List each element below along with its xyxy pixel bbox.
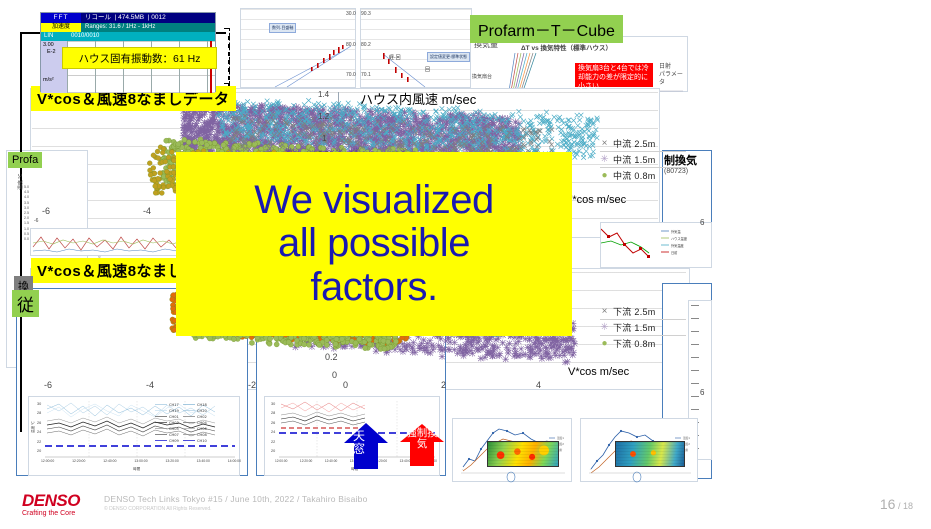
- small-chart-left-ytick-1: 80.0: [346, 42, 356, 48]
- label-profarm-t-cube: Profarm－T－Cube: [470, 15, 623, 43]
- main-legend-marker-0: ×: [600, 139, 609, 149]
- svg-text:CH06: CH06: [197, 427, 207, 431]
- footer-text: DENSO Tech Links Tokyo #15 / June 10th, …: [104, 494, 368, 512]
- svg-text:CH08: CH08: [197, 433, 207, 437]
- svg-text:CH05: CH05: [169, 427, 179, 431]
- lower-xtick-3: 0: [343, 380, 348, 390]
- fft-range-label: Ranges: 31.6 / 1Hz - 1kHz: [81, 23, 215, 32]
- lower-xtick-2: -2: [248, 380, 256, 390]
- svg-text:CH09: CH09: [169, 439, 179, 443]
- fft-title: FFT: [41, 13, 81, 23]
- main-legend-row-2: ● 中流 0.8m: [600, 169, 686, 182]
- small-chart-mid-tag2: 回: [423, 65, 432, 74]
- main-xtick-1: -4: [143, 206, 151, 216]
- svg-text:温度1: 温度1: [683, 436, 690, 440]
- right-mini-chart-svg: 外気温ハウス温度 外気温度日射: [601, 223, 713, 269]
- svg-text:温度1: 温度1: [557, 436, 564, 440]
- main-xtick-0: -6: [42, 206, 50, 216]
- left-xtick-minus6: -6: [34, 218, 38, 224]
- lower-ytick-4: 0: [332, 370, 337, 380]
- main-legend-marker-1: ✳: [600, 155, 609, 165]
- small-chart-left-tag: 数列-目盛軸: [269, 23, 296, 33]
- small-chart-mid: 経-回 回: [360, 8, 472, 88]
- fft-memory-label: 474.5MB: [118, 14, 144, 21]
- lower-xtick-4: 2: [441, 380, 446, 390]
- fft-code-label: 0012: [151, 14, 165, 21]
- thermal-image-left: [487, 441, 559, 467]
- svg-text:CH20: CH20: [197, 409, 207, 413]
- fft-lin-row: LIN 0010/0010: [41, 32, 215, 41]
- lower-legend-label-2: 下流 0.8m: [613, 337, 656, 350]
- arrow-red-label: 強制換気: [406, 428, 438, 450]
- svg-text:CH19: CH19: [169, 409, 179, 413]
- denso-tagline: Crafting the Core: [22, 509, 100, 518]
- timeseries-left-xlabel: 時間: [133, 467, 140, 472]
- page-number-total: 18: [903, 501, 913, 511]
- timeseries-left-xticks: 12:00:00 12:20:00 12:40:00 13:00:00 13:2…: [41, 459, 241, 463]
- small-chart-mid-ytick-2: 70.1: [361, 72, 371, 78]
- ts-left-xtick-5: 13:40:00: [197, 459, 210, 463]
- lower-xtick-0: -6: [44, 380, 52, 390]
- main-legend-marker-2: ●: [600, 171, 609, 181]
- fft-param-label: 加速度: [41, 23, 81, 32]
- fft-titlebar-info: リコール | 474.5MB | 0012: [81, 13, 215, 23]
- fft-y-unit: m/s²: [43, 77, 54, 83]
- ts-left-xtick-0: 12:00:00: [41, 459, 54, 463]
- ts-center-xtick-0: 12:00:00: [275, 459, 287, 463]
- svg-text:外気温度: 外気温度: [671, 243, 685, 248]
- fft-annotation-note: ハウス固有振動数：61 Hz: [62, 47, 217, 69]
- label-forced-vent: 制換気: [664, 152, 697, 168]
- lower-legend-row-0: × 下流 2.5m: [600, 305, 686, 318]
- ts-left-xtick-4: 13:20:00: [166, 459, 179, 463]
- footer-copyright: © DENSO CORPORATION All Rights Reserved.: [104, 506, 368, 512]
- small-chart-left-trend: [241, 9, 357, 89]
- slide-canvas: FFT リコール | 474.5MB | 0012 加速度 Ranges: 31…: [0, 0, 931, 529]
- cube-red-callout: 換気扇3台と4台では冷却能力の差が限定的に小さい: [575, 63, 653, 87]
- lower-chart-legend: × 下流 2.5m ✳ 下流 1.5m ● 下流 0.8m: [600, 305, 686, 350]
- footer-event-line: DENSO Tech Links Tokyo #15 / June 10th, …: [104, 494, 368, 504]
- fft-range-row: 加速度 Ranges: 31.6 / 1Hz - 1kHz: [41, 23, 215, 32]
- fft-y-top: 3.00: [43, 42, 54, 48]
- svg-text:CH01: CH01: [169, 415, 179, 419]
- main-xaxis-label: V*cos m/sec: [565, 194, 626, 206]
- timeseries-left-ylabel: 温度 ℃: [31, 421, 36, 433]
- svg-text:CH07: CH07: [169, 433, 179, 437]
- main-legend-label-2: 中流 0.8m: [613, 169, 656, 182]
- timeseries-left-svg: CH17CH18 CH19CH20 CH01CH02 CH03CH04 CH05…: [29, 397, 241, 477]
- small-chart-mid-trend: [361, 9, 473, 89]
- svg-text:CH10: CH10: [197, 439, 207, 443]
- lower-legend-marker-0: ×: [600, 307, 609, 317]
- denso-wordmark: DENSO: [22, 492, 100, 509]
- small-chart-left-ytick-0: 30.0: [346, 11, 356, 17]
- lower-legend-marker-2: ●: [600, 339, 609, 349]
- svg-text:CH02: CH02: [197, 415, 207, 419]
- main-ytick-0: 1.4: [318, 90, 329, 99]
- small-chart-mid-ytick-1: 80.2: [361, 42, 371, 48]
- svg-text:CH18: CH18: [197, 403, 207, 407]
- lower-xaxis-label: V*cos m/sec: [568, 366, 629, 378]
- left-axis-ticks: 5.04.54.03.53.02.52.01.51.00.50.0: [24, 185, 29, 242]
- svg-text:CH04: CH04: [197, 421, 207, 425]
- right-mini-chart: 外気温ハウス温度 外気温度日射: [600, 222, 712, 268]
- right-upper-xtick: 6: [700, 218, 704, 227]
- callout-line-2: all possible: [278, 222, 470, 265]
- svg-text:CH03: CH03: [169, 421, 179, 425]
- small-chart-left-ytick-2: 70.0: [346, 72, 356, 78]
- lower-xtick-5: 4: [536, 380, 541, 390]
- svg-text:ハウス温度: ハウス温度: [671, 236, 688, 241]
- small-chart-mid-tag1: 経-回: [387, 53, 403, 62]
- lower-legend-marker-1: ✳: [600, 323, 609, 333]
- rule-dash-stem: [228, 36, 230, 86]
- main-ytick-2: 1: [322, 134, 326, 143]
- main-legend-label-1: 中流 1.5m: [613, 153, 656, 166]
- small-chart-mid-tag3: 設定値変更:標準状態: [427, 52, 470, 62]
- denso-logo: DENSO Crafting the Core: [22, 492, 100, 518]
- svg-text:CH17: CH17: [169, 403, 179, 407]
- arrow-blue-label: 天窓: [352, 430, 366, 456]
- arrow-blue-tenmado: [342, 423, 390, 471]
- lower-legend-row-1: ✳ 下流 1.5m: [600, 321, 686, 334]
- fft-lin-label: LIN: [41, 32, 71, 41]
- ts-center-xtick-1: 12:20:00: [300, 459, 312, 463]
- lower-legend-label-0: 下流 2.5m: [613, 305, 656, 318]
- thermal-left-xticks: 11:00 11:20 11:40 12:00 12:20 12:40 13:0…: [461, 469, 565, 482]
- thermal-panel-left: 温度1温度2日射 11:00 11:20 11:40 12:00 12:20 1…: [452, 418, 572, 482]
- cube-ysub: 換気扇台: [472, 73, 492, 80]
- page-number-current: 16: [880, 496, 896, 512]
- timeseries-panel-left: 温度 ℃ 302826242220 CH17CH18 CH19CH20: [28, 396, 240, 476]
- lower-ytick-3: 0.2: [325, 352, 338, 362]
- fft-recall-label: リコール: [85, 14, 111, 21]
- callout-line-3: factors.: [310, 266, 437, 309]
- cube-xlabel: 日射 パラメータ: [659, 63, 687, 87]
- main-ytick-1: 1.2: [318, 112, 329, 121]
- thermal-image-right: [615, 441, 685, 467]
- thermal-right-xticks: 11:00 11:20 11:40 12:00 12:20 12:40 13:0…: [589, 469, 691, 482]
- lower-legend-row-2: ● 下流 0.8m: [600, 337, 686, 350]
- ts-left-xtick-6: 14:00:00: [228, 459, 241, 463]
- fft-counter-label: 0010/0010: [71, 32, 99, 41]
- svg-text:外気温: 外気温: [671, 229, 681, 234]
- ts-center-xtick-2: 12:40:00: [325, 459, 337, 463]
- ts-left-xtick-2: 12:40:00: [103, 459, 116, 463]
- thermal-panel-right: 温度1温度2日射 11:00 11:20 11:40 12:00 12:20 1…: [580, 418, 698, 482]
- cube-title: ΔT vs 換気特性（標準ハウス）: [521, 42, 612, 52]
- main-legend-row-0: × 中流 2.5m: [600, 137, 686, 150]
- main-legend-label-0: 中流 2.5m: [613, 137, 656, 150]
- label-jyu: 従: [12, 290, 39, 317]
- cube-panel: 換気量 換気扇台 ΔT vs 換気特性（標準ハウス） 換気扇3台と4台では冷却能…: [470, 36, 688, 92]
- ts-left-xtick-3: 13:00:00: [134, 459, 147, 463]
- left-axis-unit: 温度 ℃: [17, 174, 24, 190]
- page-number-separator: /: [895, 501, 903, 511]
- label-profarm-left: Profa: [8, 152, 42, 168]
- fft-titlebar: FFT リコール | 474.5MB | 0012: [41, 13, 215, 23]
- right-lower-xtick: 6: [700, 388, 704, 397]
- callout-line-1: We visualized: [254, 179, 494, 222]
- small-chart-mid-ytick-0: 90.3: [361, 11, 371, 17]
- lower-legend-label-1: 下流 1.5m: [613, 321, 656, 334]
- callout-box: We visualized all possible factors.: [176, 152, 572, 336]
- small-chart-left: 数列-目盛軸: [240, 8, 356, 88]
- main-chart-title: ハウス内風速 m/sec: [360, 89, 476, 108]
- rule-left-vertical: [20, 32, 22, 432]
- fft-y-exp: E-2: [47, 49, 56, 55]
- page-number: 16 / 18: [880, 496, 913, 514]
- ts-left-xtick-1: 12:20:00: [72, 459, 85, 463]
- lower-xtick-1: -4: [146, 380, 154, 390]
- svg-text:日射: 日射: [671, 250, 678, 255]
